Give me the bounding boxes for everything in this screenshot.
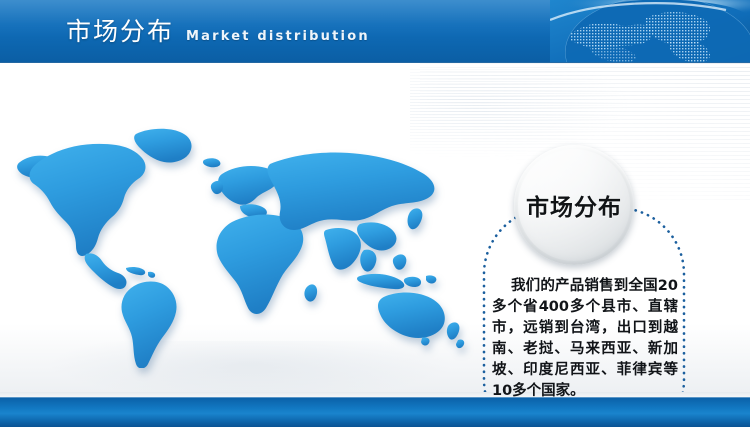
slide-body: 市场分布 我们的产品销售到全国20多个省400多个县市、直辖市，远销到台湾，出口…	[0, 63, 750, 397]
slide-header: 市场分布 Market distribution	[0, 0, 750, 63]
slide-footer	[0, 397, 750, 427]
page-title: 市场分布 Market distribution	[66, 12, 370, 48]
page-title-cn: 市场分布	[66, 12, 174, 48]
footer-base	[0, 427, 750, 440]
footer-top-highlight	[0, 397, 750, 398]
slide-canvas: 市场分布 Market distribution	[0, 0, 750, 440]
badge-label: 市场分布	[526, 188, 622, 222]
panel-body-text: 我们的产品销售到全国20多个省400多个县市、直辖市，远销到台湾，出口到越南、老…	[492, 276, 678, 397]
world-map-icon	[8, 118, 468, 368]
market-distribution-panel: 市场分布 我们的产品销售到全国20多个省400多个县市、直辖市，远销到台湾，出口…	[484, 145, 688, 397]
page-title-en: Market distribution	[186, 29, 370, 44]
world-globe-icon	[550, 0, 750, 63]
panel-badge: 市场分布	[514, 145, 634, 265]
